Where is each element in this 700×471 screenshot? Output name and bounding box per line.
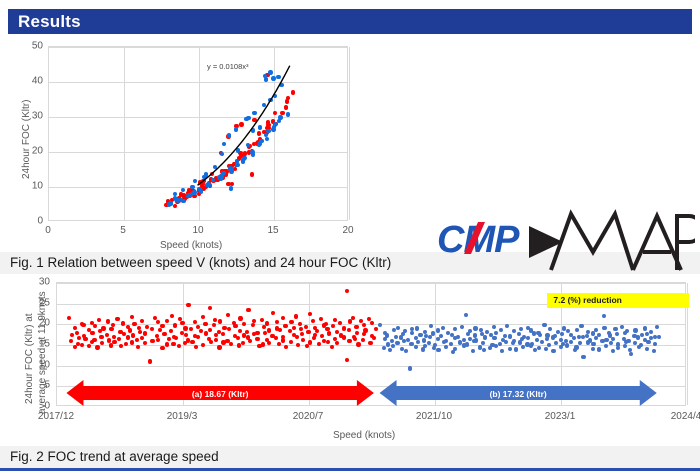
data-point [190, 185, 194, 189]
data-point [199, 189, 203, 193]
data-point [284, 105, 288, 109]
data-point [264, 77, 268, 81]
y-tick-label: 40 [32, 76, 43, 87]
data-point [286, 96, 290, 100]
data-point [239, 122, 243, 126]
grid-line [49, 117, 347, 118]
period-a-arrow-label: (a) 18.67 (Kltr) [192, 389, 249, 399]
data-point [266, 129, 270, 133]
results-header-bar: Results [8, 9, 692, 34]
data-point [210, 172, 214, 176]
data-point [236, 148, 240, 152]
data-point [244, 117, 248, 121]
data-point [213, 165, 217, 169]
data-point [219, 174, 223, 178]
x-tick-label: 20 [342, 225, 353, 236]
grid-line [124, 47, 125, 220]
y-tick-label: 30 [39, 277, 50, 288]
grid-line [274, 47, 275, 220]
data-point [250, 150, 254, 154]
x-tick-label: 2024/4 [671, 411, 700, 422]
figure-2-x-axis-title: Speed (knots) [333, 430, 395, 441]
data-point [191, 191, 195, 195]
slide-root: Results 01020304050 05101520 Speed (knot… [0, 0, 700, 471]
data-point [181, 188, 185, 192]
grid-line [49, 82, 347, 83]
x-tick-label: 2021/10 [416, 411, 452, 422]
data-point [286, 112, 290, 116]
page-title: Results [8, 12, 81, 32]
y-tick-label: 10 [32, 181, 43, 192]
x-tick-label: 0 [45, 225, 51, 236]
data-point [258, 125, 262, 129]
grid-line [349, 47, 350, 220]
data-point [202, 175, 206, 179]
data-point [279, 83, 283, 87]
data-point [181, 199, 185, 203]
x-tick-label: 2020/7 [293, 411, 324, 422]
data-point [220, 152, 224, 156]
figure-1-chart: 01020304050 05101520 Speed (knots) 24hou… [8, 38, 356, 250]
data-point [252, 118, 256, 122]
data-point [273, 111, 277, 115]
grid-line [49, 152, 347, 153]
data-point [250, 172, 254, 176]
data-point [234, 127, 238, 131]
grid-line [49, 47, 347, 48]
y-tick-label: 0 [37, 216, 43, 227]
data-point [268, 98, 272, 102]
figure-1-y-axis-title: 24hour FOC (Kltr) [21, 99, 32, 178]
data-point [167, 202, 171, 206]
figure-1-caption: Fig. 1 Relation between speed V (knots) … [10, 255, 391, 270]
data-point [211, 178, 215, 182]
data-point [251, 128, 255, 132]
data-point [262, 103, 266, 107]
data-point [252, 111, 256, 115]
data-point [206, 182, 210, 186]
data-point [227, 133, 231, 137]
figure-2-y-axis-title-line1: 24hour FOC (Kltr) at [24, 313, 35, 404]
data-point [265, 137, 269, 141]
figure-1-x-axis-title: Speed (knots) [160, 240, 222, 251]
data-point [229, 169, 233, 173]
data-point [198, 180, 202, 184]
data-point [221, 171, 225, 175]
x-tick-label: 2019/3 [167, 411, 198, 422]
figure-1-plot-area [48, 46, 348, 221]
data-point [268, 70, 272, 74]
x-tick-label: 15 [267, 225, 278, 236]
data-point [280, 111, 284, 115]
period-b-arrow-label: (b) 17.32 (Kltr) [490, 389, 547, 399]
figure-2-chart: (a) 18.67 (Kltr)(b) 17.32 (Kltr) 0510152… [8, 278, 692, 443]
data-point [271, 76, 275, 80]
cmp-map-logo: CMP [437, 206, 695, 272]
y-tick-label: 30 [32, 111, 43, 122]
data-point [291, 90, 295, 94]
data-point [273, 94, 277, 98]
y-tick-label: 20 [32, 146, 43, 157]
y-tick-label: 50 [32, 41, 43, 52]
figure-2-y-axis-title-line2: average speed at 11.9knots [37, 291, 48, 414]
data-point [266, 123, 270, 127]
data-point [193, 179, 197, 183]
reduction-note-badge: 7.2 (%) reduction [547, 293, 689, 308]
data-point [222, 142, 226, 146]
x-tick-label: 10 [192, 225, 203, 236]
x-tick-label: 2023/1 [545, 411, 576, 422]
data-point [235, 159, 239, 163]
data-point [278, 115, 282, 119]
x-tick-label: 5 [120, 225, 126, 236]
data-point [226, 182, 230, 186]
data-point [259, 139, 263, 143]
data-point [173, 204, 177, 208]
data-point [243, 156, 247, 160]
data-point [257, 131, 261, 135]
data-point [276, 75, 280, 79]
figure-1-trendline-equation: y = 0.0108x³ [207, 62, 248, 71]
data-point [229, 186, 233, 190]
figure-2-caption: Fig. 2 FOC trend at average speed [10, 449, 219, 464]
